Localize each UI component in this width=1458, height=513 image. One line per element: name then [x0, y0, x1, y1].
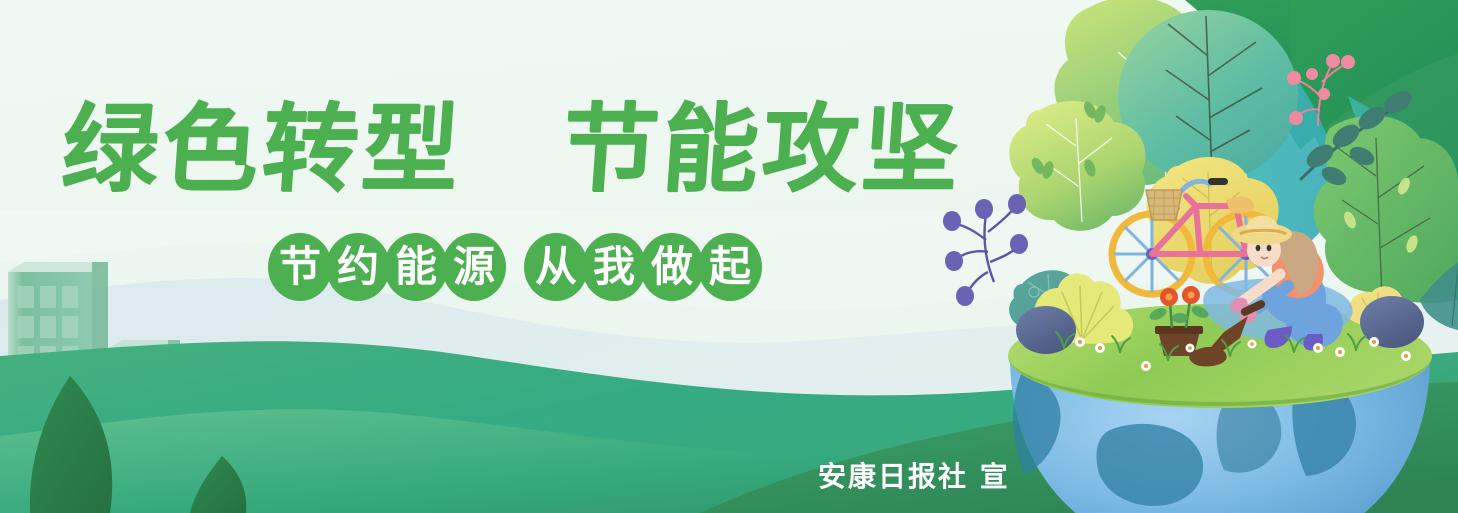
subtitle-char: 我 — [582, 233, 646, 301]
publisher-signature: 安康日报社 宣 — [818, 455, 1010, 495]
bush-dark-left — [1016, 306, 1076, 354]
subtitle-char: 约 — [326, 233, 390, 301]
subtitle-char: 起 — [698, 233, 762, 301]
subtitle: 节 约 能 源 从 我 做 起 — [268, 232, 756, 302]
bicycle-basket — [1146, 190, 1182, 220]
subtitle-char: 源 — [442, 233, 506, 301]
illustration-group — [943, 0, 1458, 513]
subtitle-char: 节 — [268, 233, 332, 301]
subtitle-char: 从 — [524, 233, 588, 301]
eco-banner: 绿色转型 节能攻坚 节 约 能 源 从 我 做 起 安康日报社 宣 — [0, 0, 1458, 513]
subtitle-char: 能 — [384, 233, 448, 301]
subtitle-char: 做 — [640, 233, 704, 301]
